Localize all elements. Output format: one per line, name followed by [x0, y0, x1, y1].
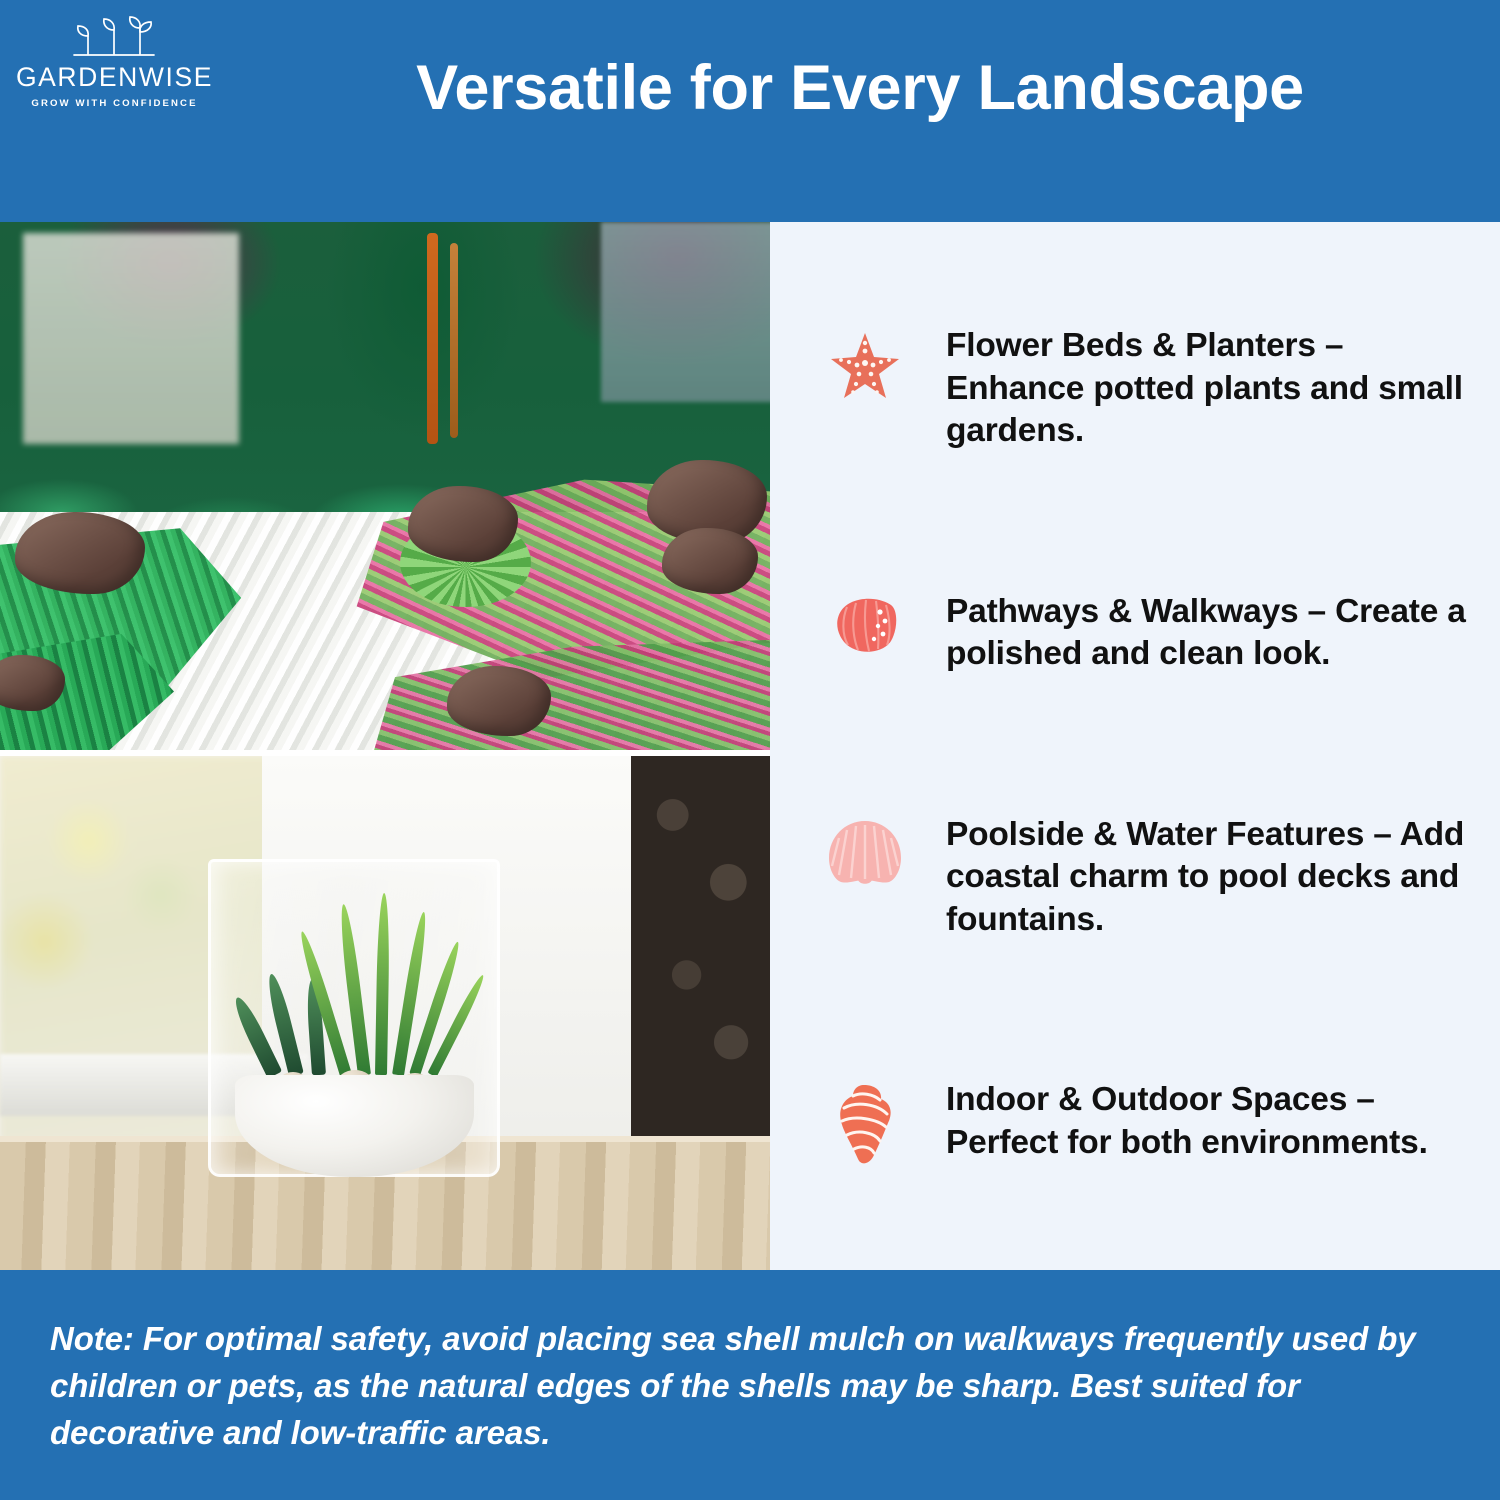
page-footer: Note: For optimal safety, avoid placing … [0, 1270, 1500, 1500]
feature-item-pathways: Pathways & Walkways – Create a polished … [826, 591, 1466, 677]
page-title: Versatile for Every Landscape [225, 0, 1495, 222]
photo-column [0, 222, 770, 1270]
brand-logo: GARDENWISE GROW WITH CONFIDENCE [12, 14, 217, 109]
windowsill-glass-terrarium-photo [0, 756, 770, 1270]
feature-list: Flower Beds & Planters – Enhance potted … [770, 222, 1500, 1270]
scallop-shell-icon [826, 814, 904, 890]
brand-tagline: GROW WITH CONFIDENCE [12, 98, 217, 109]
starfish-icon [826, 325, 904, 403]
feature-text: Poolside & Water Features – Add coastal … [946, 814, 1466, 943]
safety-note: Note: For optimal safety, avoid placing … [50, 1316, 1446, 1457]
tropical-garden-white-gravel-photo [0, 222, 770, 750]
feature-text: Flower Beds & Planters – Enhance potted … [946, 325, 1466, 454]
feature-text: Pathways & Walkways – Create a polished … [946, 591, 1466, 677]
feature-item-flower-beds: Flower Beds & Planters – Enhance potted … [826, 325, 1466, 454]
sprouting-plants-icon [50, 14, 180, 62]
content-area: Flower Beds & Planters – Enhance potted … [0, 222, 1500, 1270]
conch-shell-icon [826, 1079, 904, 1167]
feature-item-poolside: Poolside & Water Features – Add coastal … [826, 814, 1466, 943]
feature-item-indoor-outdoor: Indoor & Outdoor Spaces – Perfect for bo… [826, 1079, 1466, 1167]
brand-name: GARDENWISE [12, 64, 217, 91]
page-header: GARDENWISE GROW WITH CONFIDENCE Versatil… [0, 0, 1500, 222]
clam-shell-icon [826, 591, 904, 661]
feature-text: Indoor & Outdoor Spaces – Perfect for bo… [946, 1079, 1466, 1165]
